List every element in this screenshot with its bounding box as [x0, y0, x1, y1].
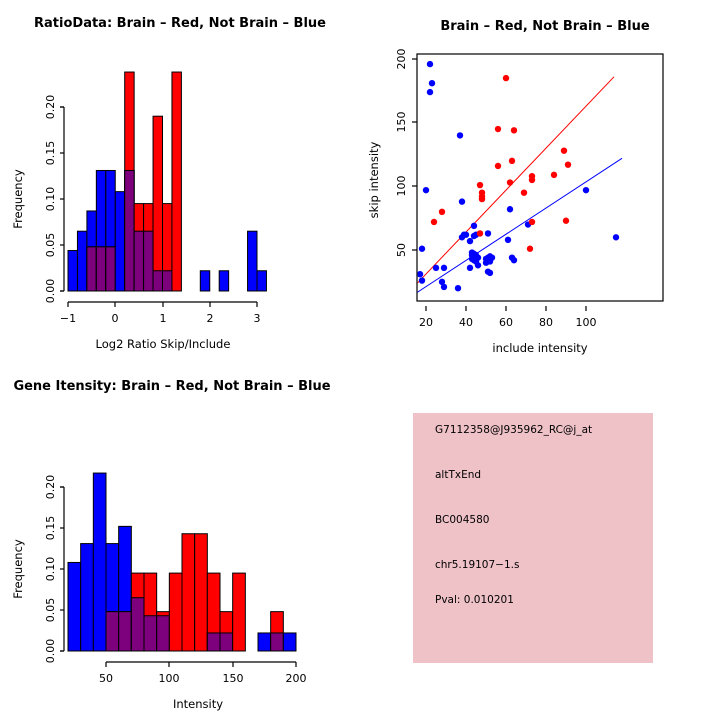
- scatter-point-brain: [495, 163, 501, 169]
- scatter-point-brain: [565, 161, 571, 167]
- scatter-point-not-brain: [427, 89, 433, 95]
- scatter-point-not-brain: [417, 271, 423, 277]
- histogram-bar-overlap: [157, 616, 170, 651]
- figure-canvas: RatioData: Brain – Red, Not Brain – Blue…: [0, 0, 720, 720]
- scatter-point-not-brain: [459, 234, 465, 240]
- scatter-point-brain: [521, 190, 527, 196]
- scatter-y-axis-label: skip intensity: [367, 141, 381, 218]
- scatter-xtick-100: 100: [576, 316, 597, 329]
- histogram-bar-not-brain: [115, 192, 124, 291]
- histogram-bar-overlap: [106, 247, 115, 291]
- histogram-bar-overlap: [153, 271, 162, 291]
- panel-gene-intensity-histogram: Gene Itensity: Brain – Red, Not Brain – …: [0, 360, 360, 720]
- annotation-line-locus: chr5.19107−1.s: [435, 559, 519, 571]
- scatter-point-not-brain: [419, 277, 425, 283]
- histogram-bar-overlap: [87, 247, 96, 291]
- scatter-point-not-brain: [511, 257, 517, 263]
- annotation-background: [413, 413, 653, 663]
- histogram-bar-brain: [195, 534, 208, 651]
- scatter-point-brain: [477, 230, 483, 236]
- ratio-ytick-0: 0.00: [44, 279, 57, 304]
- scatter-points-group: [404, 61, 622, 298]
- scatter-point-not-brain: [613, 234, 619, 240]
- gene-xtick-100: 100: [159, 672, 180, 685]
- histogram-bar-not-brain: [93, 473, 106, 651]
- gene-xtick-200: 200: [286, 672, 307, 685]
- scatter-point-not-brain: [459, 198, 465, 204]
- scatter-point-brain: [431, 219, 437, 225]
- histogram-bar-not-brain: [257, 271, 266, 291]
- scatter-point-brain: [527, 246, 533, 252]
- scatter-point-brain: [439, 209, 445, 215]
- ratio-histogram-title: RatioData: Brain – Red, Not Brain – Blue: [34, 16, 326, 31]
- histogram-bar-overlap: [271, 633, 284, 651]
- histogram-bar-overlap: [220, 633, 233, 651]
- histogram-bar-overlap: [106, 612, 119, 651]
- ratio-x-axis-label: Log2 Ratio Skip/Include: [96, 337, 231, 351]
- scatter-x-axis-label: include intensity: [492, 341, 587, 355]
- ratio-histogram-svg: RatioData: Brain – Red, Not Brain – Blue…: [0, 0, 360, 360]
- histogram-bar-brain: [153, 116, 162, 291]
- scatter-point-not-brain: [507, 206, 513, 212]
- histogram-bar-overlap: [125, 170, 134, 291]
- histogram-bar-not-brain: [248, 231, 257, 291]
- ratio-xtick-1: 0: [112, 312, 119, 325]
- scatter-point-not-brain: [475, 254, 481, 260]
- histogram-bar-brain: [233, 573, 246, 651]
- scatter-ytick-200: 200: [395, 49, 408, 70]
- ratio-xtick-4: 3: [254, 312, 261, 325]
- histogram-bar-not-brain: [81, 544, 94, 651]
- gene-y-axis-label: Frequency: [11, 539, 25, 599]
- gene-histogram-title: Gene Itensity: Brain – Red, Not Brain – …: [13, 379, 330, 394]
- scatter-ytick-100: 100: [395, 176, 408, 197]
- scatter-point-brain: [479, 196, 485, 202]
- gene-ytick-3: 0.15: [44, 516, 57, 541]
- histogram-bar-not-brain: [219, 271, 228, 291]
- histogram-bar-overlap: [163, 271, 172, 291]
- scatter-point-brain: [511, 127, 517, 133]
- scatter-point-not-brain: [467, 265, 473, 271]
- scatter-plot-frame: [417, 54, 663, 301]
- scatter-fit-line-brain-fit: [404, 77, 614, 297]
- scatter-point-not-brain: [409, 144, 415, 150]
- histogram-bar-not-brain: [283, 633, 296, 651]
- scatter-y-axis: 200 150 100 50 skip intensity: [367, 49, 417, 258]
- annotation-line-accession: BC004580: [435, 514, 489, 526]
- ratio-x-axis: −1 0 1 2 3 Log2 Ratio Skip/Include: [60, 302, 261, 351]
- ratio-ytick-3: 0.15: [44, 141, 57, 166]
- scatter-point-not-brain: [427, 61, 433, 67]
- scatter-point-brain: [495, 126, 501, 132]
- scatter-fit-line-not-brain-fit: [408, 158, 622, 298]
- scatter-point-brain: [529, 219, 535, 225]
- gene-ytick-4: 0.20: [44, 475, 57, 500]
- scatter-point-not-brain: [475, 262, 481, 268]
- ratio-ytick-1: 0.05: [44, 233, 57, 258]
- histogram-bar-not-brain: [258, 633, 271, 651]
- scatter-point-brain: [509, 158, 515, 164]
- histogram-bar-not-brain: [200, 271, 209, 291]
- scatter-x-axis: 20 40 60 80 100 include intensity: [419, 306, 597, 355]
- histogram-bar-overlap: [207, 633, 220, 651]
- gene-y-axis: 0.00 0.05 0.10 0.15 0.20 Frequency: [11, 475, 64, 664]
- gene-ytick-1: 0.05: [44, 598, 57, 623]
- scatter-point-not-brain: [429, 80, 435, 86]
- scatter-point-brain: [503, 75, 509, 81]
- ratio-y-axis: 0.00 0.05 0.10 0.15 0.20 Frequency: [11, 95, 64, 304]
- gene-x-axis-label: Intensity: [173, 697, 223, 711]
- histogram-bar-brain: [169, 573, 182, 651]
- scatter-point-not-brain: [505, 237, 511, 243]
- scatter-point-brain: [477, 182, 483, 188]
- panel-intensity-scatter: Brain – Red, Not Brain – Blue 200 150 10…: [360, 0, 720, 360]
- annotation-line-pvalue: Pval: 0.010201: [435, 594, 514, 606]
- scatter-xtick-20: 20: [419, 316, 433, 329]
- scatter-point-brain: [561, 147, 567, 153]
- scatter-point-not-brain: [469, 252, 475, 258]
- gene-ytick-0: 0.00: [44, 639, 57, 664]
- scatter-title: Brain – Red, Not Brain – Blue: [440, 19, 649, 34]
- histogram-bar-overlap: [119, 612, 132, 651]
- scatter-point-not-brain: [455, 285, 461, 291]
- scatter-xtick-40: 40: [459, 316, 473, 329]
- scatter-point-brain: [507, 179, 513, 185]
- scatter-point-brain: [563, 218, 569, 224]
- scatter-point-not-brain: [423, 187, 429, 193]
- gene-xtick-50: 50: [99, 672, 113, 685]
- histogram-bar-not-brain: [68, 251, 77, 291]
- histogram-bar-overlap: [131, 598, 144, 651]
- annotation-line-event-type: altTxEnd: [435, 469, 481, 481]
- annotation-svg: G7112358@J935962_RC@j_at altTxEnd BC0045…: [360, 360, 720, 720]
- ratio-bar-group: [68, 72, 266, 291]
- scatter-xtick-80: 80: [539, 316, 553, 329]
- annotation-line-probeset-id: G7112358@J935962_RC@j_at: [435, 424, 592, 436]
- scatter-point-not-brain: [409, 286, 415, 292]
- scatter-point-not-brain: [487, 270, 493, 276]
- scatter-svg: Brain – Red, Not Brain – Blue 200 150 10…: [360, 0, 720, 360]
- histogram-bar-overlap: [96, 247, 105, 291]
- gene-xtick-150: 150: [223, 672, 244, 685]
- gene-bar-group: [68, 473, 296, 651]
- scatter-point-not-brain: [419, 246, 425, 252]
- scatter-point-not-brain: [457, 132, 463, 138]
- histogram-bar-overlap: [144, 231, 153, 291]
- scatter-point-not-brain: [433, 265, 439, 271]
- scatter-point-brain: [551, 172, 557, 178]
- scatter-point-not-brain: [441, 284, 447, 290]
- gene-histogram-svg: Gene Itensity: Brain – Red, Not Brain – …: [0, 360, 360, 720]
- scatter-ytick-150: 150: [395, 112, 408, 133]
- histogram-bar-not-brain: [77, 231, 86, 291]
- panel-annotation-box: G7112358@J935962_RC@j_at altTxEnd BC0045…: [360, 360, 720, 720]
- scatter-point-not-brain: [441, 265, 447, 271]
- scatter-point-not-brain: [485, 230, 491, 236]
- gene-ytick-2: 0.10: [44, 557, 57, 582]
- ratio-y-axis-label: Frequency: [11, 169, 25, 229]
- scatter-xtick-60: 60: [499, 316, 513, 329]
- ratio-ytick-2: 0.10: [44, 187, 57, 212]
- histogram-bar-brain: [172, 72, 181, 291]
- ratio-ytick-4: 0.20: [44, 95, 57, 120]
- ratio-xtick-2: 1: [160, 312, 167, 325]
- ratio-xtick-3: 2: [207, 312, 214, 325]
- scatter-ytick-50: 50: [395, 243, 408, 257]
- histogram-bar-not-brain: [68, 562, 81, 651]
- scatter-point-not-brain: [471, 223, 477, 229]
- histogram-bar-brain: [182, 534, 195, 651]
- ratio-xtick-0: −1: [60, 312, 76, 325]
- histogram-bar-overlap: [144, 616, 157, 651]
- histogram-bar-overlap: [134, 231, 143, 291]
- panel-ratio-histogram: RatioData: Brain – Red, Not Brain – Blue…: [0, 0, 360, 360]
- scatter-point-not-brain: [583, 187, 589, 193]
- scatter-point-brain: [409, 286, 415, 292]
- gene-x-axis: 50 100 150 200 Intensity: [99, 662, 307, 711]
- scatter-point-brain: [529, 177, 535, 183]
- scatter-point-not-brain: [487, 258, 493, 264]
- scatter-point-not-brain: [467, 238, 473, 244]
